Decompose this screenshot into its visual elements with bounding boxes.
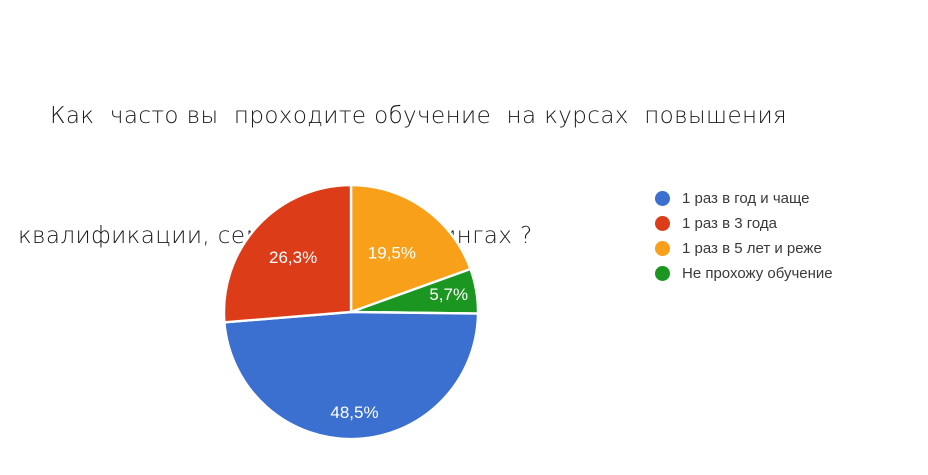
pie-slice-value-label: 5,7% xyxy=(429,285,468,304)
legend-color-swatch-icon xyxy=(655,191,670,206)
legend-item-label: 1 раз в год и чаще xyxy=(682,191,810,206)
legend-item-label: 1 раз в 3 года xyxy=(682,216,777,231)
pie-slice-value-label: 26,3% xyxy=(269,248,317,267)
legend-item[interactable]: Не прохожу обучение xyxy=(655,261,833,286)
legend-item-label: 1 раз в 5 лет и реже xyxy=(682,241,822,256)
legend-color-swatch-icon xyxy=(655,216,670,231)
legend-item[interactable]: 1 раз в 5 лет и реже xyxy=(655,236,833,261)
legend-color-swatch-icon xyxy=(655,241,670,256)
pie-chart-svg: 19,5%5,7%48,5%26,3% xyxy=(224,185,478,439)
legend-item-label: Не прохожу обучение xyxy=(682,266,833,281)
legend-item[interactable]: 1 раз в год и чаще xyxy=(655,186,833,211)
chart-legend: 1 раз в год и чаще1 раз в 3 года1 раз в … xyxy=(655,186,833,286)
pie-slice-value-label: 19,5% xyxy=(368,243,416,262)
pie-slice-value-label: 48,5% xyxy=(330,403,378,422)
legend-color-swatch-icon xyxy=(655,266,670,281)
pie-slice-group xyxy=(224,185,478,439)
pie-chart: 19,5%5,7%48,5%26,3% xyxy=(224,185,478,439)
legend-item[interactable]: 1 раз в 3 года xyxy=(655,211,833,236)
page-title-line-1: Как часто вы проходите обучение на курса… xyxy=(50,96,870,136)
